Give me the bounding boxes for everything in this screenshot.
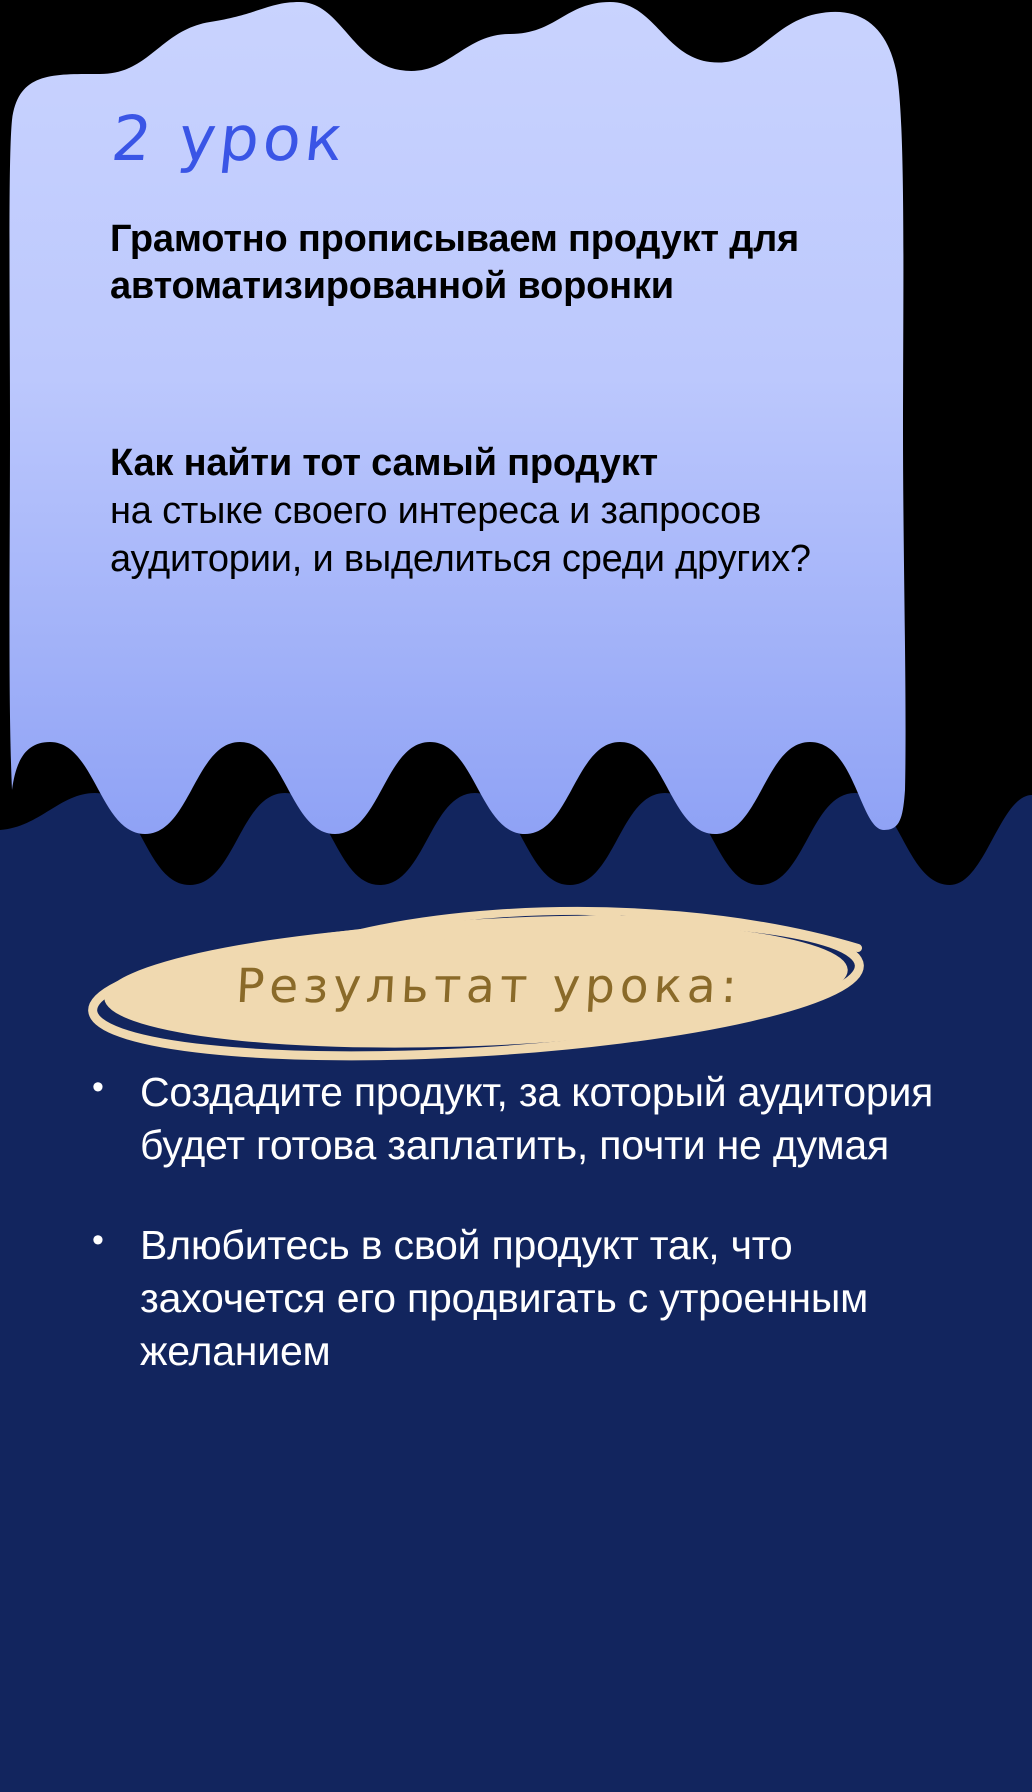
list-item: • Создадите продукт, за который аудитори… (86, 1066, 966, 1173)
lesson-heading: Грамотно прописываем продукт для автомат… (110, 216, 850, 310)
question-bold-line: Как найти тот самый продукт (110, 440, 870, 488)
result-ellipse-shape (58, 862, 888, 1062)
result-bullet-list: • Создадите продукт, за который аудитори… (86, 1066, 966, 1424)
question-rest: на стыке своего интереса и запросов ауди… (110, 488, 870, 584)
bullet-text: Создадите продукт, за который аудитория … (140, 1066, 966, 1173)
list-item: • Влюбитесь в свой продукт так, что захо… (86, 1219, 966, 1379)
lesson-question: Как найти тот самый продукт на стыке сво… (110, 440, 870, 584)
lesson-number: 2 урок (109, 108, 350, 170)
slide-canvas: 2 урок Грамотно прописываем продукт для … (0, 0, 1032, 1792)
bullet-text: Влюбитесь в свой продукт так, что захоче… (140, 1219, 966, 1379)
result-badge: Результат урока: (58, 862, 888, 1062)
bullet-marker-icon: • (86, 1066, 140, 1110)
bullet-marker-icon: • (86, 1219, 140, 1263)
